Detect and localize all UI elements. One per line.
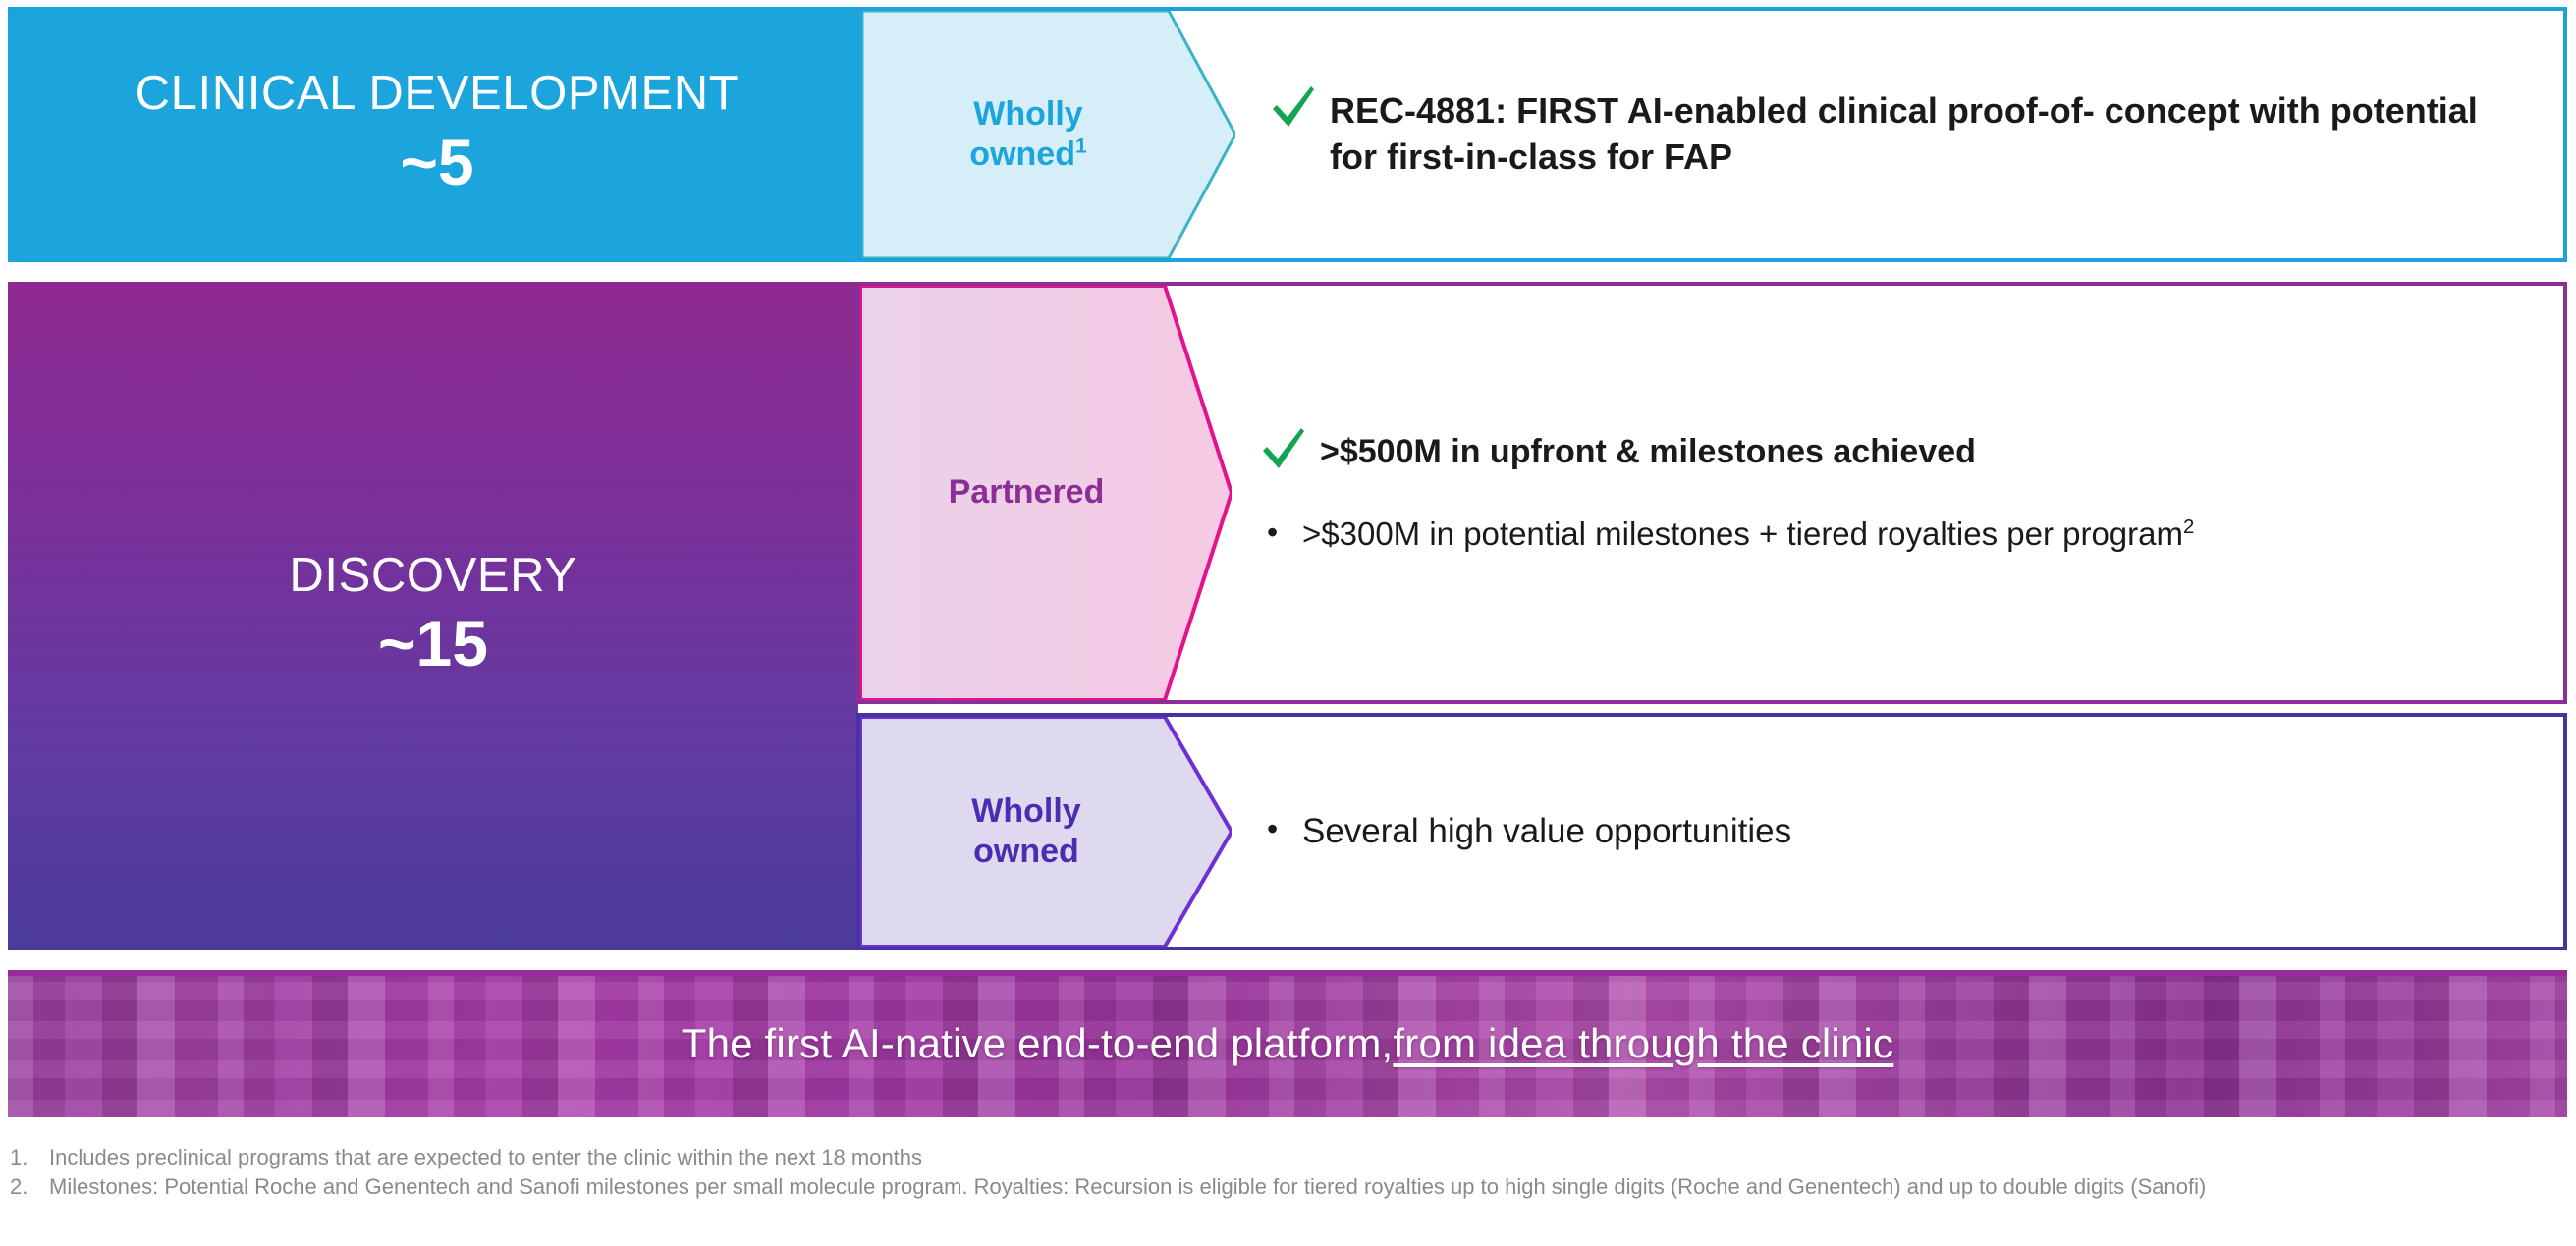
chevron-label-line2: owned [973,833,1079,870]
partnered-bullet-line1: >$300M in potential milestones + tiered … [1302,515,1998,552]
partnered-highlight-text: >$500M in upfront & milestones achieved [1320,430,1976,473]
partnered-content-panel: >$500M in upfront & milestones achieved … [1232,286,2563,700]
clinical-wholly-owned-chevron: Wholly owned1 [862,11,1235,258]
partnered-row: Partnered >$500M in upfront & milestones… [856,282,2567,704]
wholly-owned-chevron-label: Wholly owned [971,791,1080,873]
green-check-icon [1259,426,1320,471]
footnote-item: 2. Milestones: Potential Roche and Genen… [10,1172,2563,1202]
banner-text-plain: The first AI-native end-to-end platform, [682,1020,1394,1067]
partnered-chevron: Partnered [860,286,1232,700]
partnered-bullet-footnote-marker: 2 [2183,515,2194,538]
discovery-stage-name: DISCOVERY [289,551,576,601]
partnered-bullet-item: • >$300M in potential milestones + tiere… [1259,513,2538,556]
footnote-number: 1. [10,1143,49,1172]
clinical-highlight-line: REC-4881: FIRST AI-enabled clinical proo… [1269,88,2538,181]
partnered-highlight-line: >$500M in upfront & milestones achieved [1259,430,2538,473]
clinical-development-stage-panel: CLINICAL DEVELOPMENT ~5 [12,11,862,258]
footnote-number: 2. [10,1172,49,1202]
chevron-label-line1: Wholly [973,95,1082,133]
discovery-stage-count: ~15 [378,607,488,681]
clinical-stage-count: ~5 [400,126,473,200]
clinical-highlight-line1: REC-4881: FIRST AI-enabled clinical proo… [1330,90,2095,131]
footnote-item: 1. Includes preclinical programs that ar… [10,1143,2563,1172]
wholly-owned-content-panel: • Several high value opportunities [1232,717,2563,947]
partnered-bullet-text: >$300M in potential milestones + tiered … [1302,513,2194,556]
clinical-content-panel: REC-4881: FIRST AI-enabled clinical proo… [1237,11,2563,258]
footnote-text: Includes preclinical programs that are e… [49,1143,2563,1172]
chevron-label-line2: owned [969,135,1075,173]
footnotes: 1. Includes preclinical programs that ar… [10,1143,2563,1203]
discovery-stage-panel: DISCOVERY ~15 [8,282,858,950]
clinical-chevron-label: Wholly owned1 [969,94,1086,176]
clinical-highlight-text: REC-4881: FIRST AI-enabled clinical proo… [1330,88,2498,181]
wholly-owned-chevron: Wholly owned [860,717,1232,947]
bullet-dot-icon: • [1259,809,1302,850]
partnered-chevron-label: Partnered [949,472,1105,513]
wholly-owned-bullet-text: Several high value opportunities [1302,809,1791,854]
chevron-label-line1: Wholly [971,792,1080,830]
banner-text-underlined: from idea through the clinic [1393,1020,1893,1067]
banner-text: The first AI-native end-to-end platform,… [8,970,2567,1117]
wholly-owned-row: Wholly owned • Several high value opport… [856,713,2567,950]
partnered-bullet-line2: per program [2006,515,2183,552]
clinical-stage-name: CLINICAL DEVELOPMENT [136,69,740,119]
chevron-label-footnote-marker: 1 [1075,135,1087,158]
footnote-text: Milestones: Potential Roche and Genentec… [49,1172,2563,1202]
clinical-development-row: CLINICAL DEVELOPMENT ~5 Wholly owned1 RE… [8,7,2567,262]
green-check-icon [1269,84,1330,130]
bullet-dot-icon: • [1259,513,1302,554]
platform-banner: The first AI-native end-to-end platform,… [8,970,2567,1117]
wholly-owned-bullet-item: • Several high value opportunities [1259,809,2538,854]
